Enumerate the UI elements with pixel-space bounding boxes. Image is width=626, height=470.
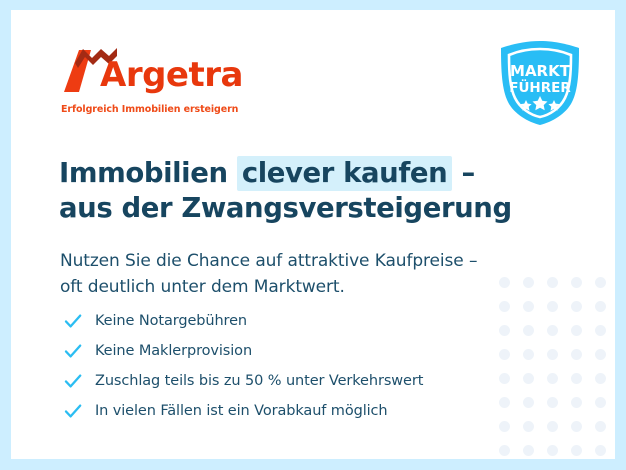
dot [547,277,558,288]
list-item: Zuschlag teils bis zu 50 % unter Verkehr… [63,366,503,396]
headline-line-2: aus der Zwangsversteigerung [59,192,512,224]
list-item-label: Zuschlag teils bis zu 50 % unter Verkehr… [95,373,423,389]
dot [523,397,534,408]
dot [571,421,582,432]
shield-badge-icon: MARKT FÜHRER [494,38,586,128]
dot [595,421,606,432]
dot [595,301,606,312]
page-headline: Immobilien clever kaufen – aus der Zwang… [59,156,529,225]
dot [523,445,534,456]
list-item: In vielen Fällen ist ein Vorabkauf mögli… [63,396,503,426]
subheadline-line-2: oft deutlich unter dem Marktwert. [60,277,345,297]
dot [571,397,582,408]
dot [547,301,558,312]
dot [595,349,606,360]
dot [523,373,534,384]
dot [571,349,582,360]
brand-logo-tagline: Erfolgreich Immobilien ersteigern [61,104,238,115]
dot [547,349,558,360]
page-subheadline: Nutzen Sie die Chance auf attraktive Kau… [60,249,540,300]
list-item-label: Keine Notargebühren [95,313,247,329]
dot [571,277,582,288]
page-canvas: Argetra Erfolgreich Immobilien ersteiger… [11,10,615,459]
dot [547,397,558,408]
check-icon [63,371,83,391]
dot [595,277,606,288]
dot-grid-decoration [499,277,615,457]
badge-line2: FÜHRER [509,78,571,96]
check-icon [63,311,83,331]
badge-line1: MARKT [510,62,571,80]
dot [571,373,582,384]
benefits-list: Keine NotargebührenKeine Maklerprovision… [63,306,503,426]
list-item: Keine Maklerprovision [63,336,503,366]
dot [595,325,606,336]
check-icon [63,341,83,361]
dot [547,421,558,432]
brand-logo-wordmark: Argetra [100,58,243,92]
headline-part-1: Immobilien [59,157,237,189]
dot [499,445,510,456]
brand-logo: Argetra Erfolgreich Immobilien ersteiger… [56,44,256,124]
dot [595,445,606,456]
dot [571,301,582,312]
subheadline-line-1: Nutzen Sie die Chance auf attraktive Kau… [60,251,477,271]
headline-highlight: clever kaufen [237,156,453,191]
dot [523,301,534,312]
list-item-label: Keine Maklerprovision [95,343,252,359]
dot [523,325,534,336]
dot [523,421,534,432]
list-item: Keine Notargebühren [63,306,503,336]
dot [523,349,534,360]
dot [547,373,558,384]
dot [547,445,558,456]
check-icon [63,401,83,421]
page-frame: Argetra Erfolgreich Immobilien ersteiger… [0,0,626,470]
dot [571,325,582,336]
dot [595,397,606,408]
dot [595,373,606,384]
list-item-label: In vielen Fällen ist ein Vorabkauf mögli… [95,403,388,419]
dot [547,325,558,336]
market-leader-badge: MARKT FÜHRER [494,38,586,128]
dot [571,445,582,456]
headline-part-2: – [452,157,475,189]
